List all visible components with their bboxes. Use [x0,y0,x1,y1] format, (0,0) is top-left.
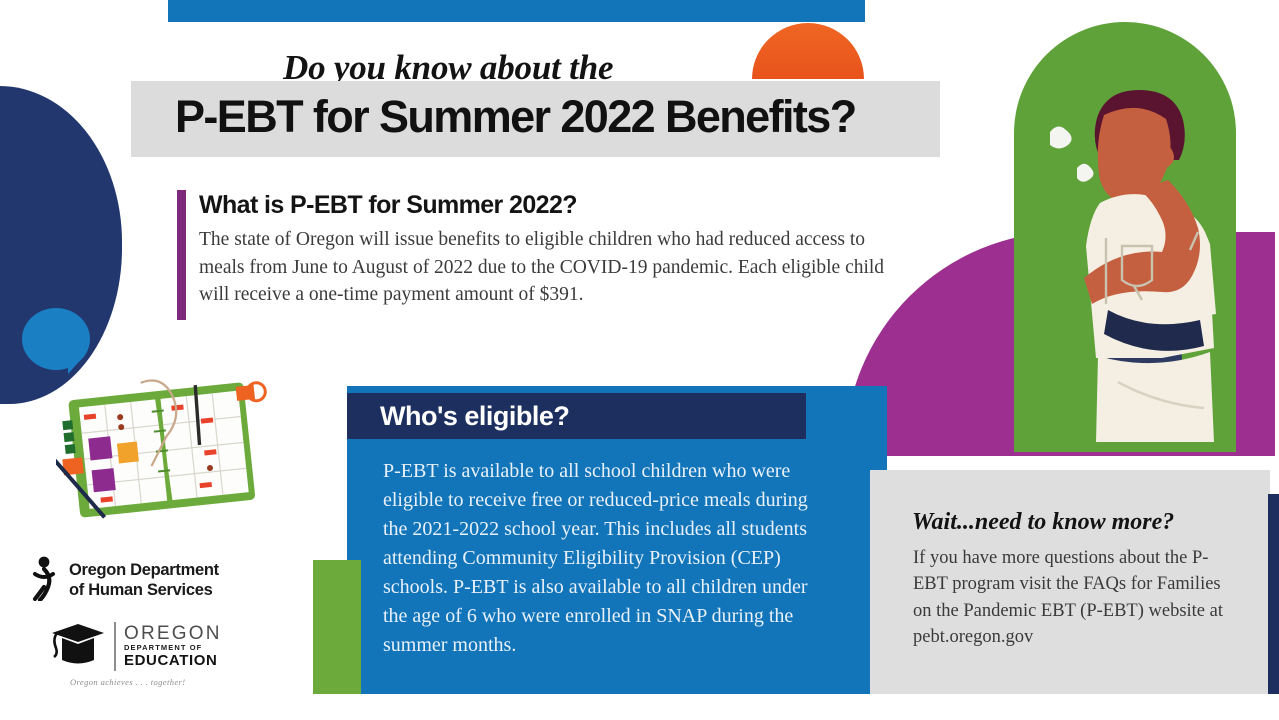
logo-divider [114,622,116,671]
speech-bubble-tail [68,352,84,374]
eligible-body: P-EBT is available to all school childre… [383,457,831,660]
oregon-dhs-logo: Oregon Department of Human Services [31,555,246,603]
ode-logo-education: EDUCATION [124,653,222,669]
dhs-logo-line1: Oregon Department [69,561,219,579]
dhs-logo-text: Oregon Department of Human Services [69,561,219,600]
calendar-planner-illustration [56,376,286,526]
ode-logo-text: OREGON DEPARTMENT OF EDUCATION [124,624,222,668]
bottom-white-strip [0,694,1279,720]
thinking-person-illustration [1022,60,1252,455]
orange-sun-shape [752,23,864,79]
more-info-body: If you have more questions about the P-E… [913,545,1243,650]
oregon-education-logo: OREGON DEPARTMENT OF EDUCATION Oregon ac… [48,620,238,682]
graduation-cap-icon [48,620,106,673]
human-figure-icon [31,555,61,606]
what-is-heading: What is P-EBT for Summer 2022? [199,191,899,220]
dhs-logo-line2: of Human Services [69,581,212,599]
page-title: P-EBT for Summer 2022 Benefits? [175,91,856,143]
ode-logo-oregon: OREGON [124,624,222,643]
infographic-poster: Do you know about the P-EBT for Summer 2… [0,0,1279,720]
what-is-section: What is P-EBT for Summer 2022? The state… [199,191,899,309]
eligible-heading: Who's eligible? [380,401,569,432]
ode-logo-tagline: Oregon achieves . . . together! [70,677,238,687]
more-info-heading: Wait...need to know more? [912,509,1174,536]
top-blue-bar [168,0,865,22]
what-is-body: The state of Oregon will issue benefits … [199,226,899,309]
navy-right-strip [1268,494,1279,720]
purple-accent-bar [177,190,186,320]
